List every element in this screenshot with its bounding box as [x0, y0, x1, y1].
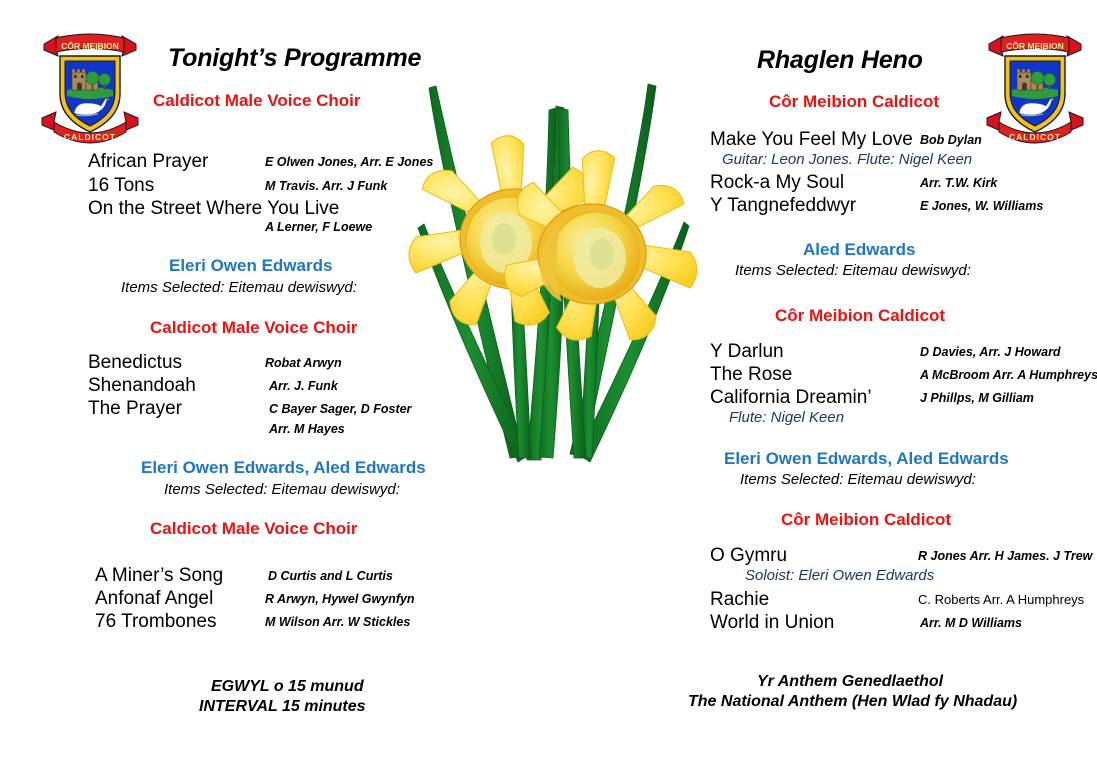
song-credit: Arr. J. Funk — [269, 379, 338, 393]
song-title: The Prayer — [88, 398, 182, 420]
song-title: Y Tangnefeddwyr — [710, 195, 856, 217]
song-credit: R Jones Arr. H James. J Trew — [918, 549, 1092, 563]
right-page-title: Rhaglen Heno — [757, 46, 923, 75]
song-title: Rock-a My Soul — [710, 172, 844, 194]
song-title: Make You Feel My Love — [710, 129, 913, 151]
daffodils-svg — [398, 58, 710, 488]
song-credit: D Curtis and L Curtis — [268, 569, 393, 583]
song-title: Shenandoah — [88, 375, 196, 397]
crest-svg: CÔR MEIBION — [983, 18, 1087, 144]
performer-note: Guitar: Leon Jones. Flute: Nigel Keen — [722, 151, 972, 168]
choir-crest-right: CÔR MEIBION — [983, 18, 1087, 144]
song-credit: M Wilson Arr. W Stickles — [265, 615, 410, 629]
left-footer-line-1: EGWYL o 15 munud — [211, 678, 364, 696]
left-items-selected-4: Items Selected: Eitemau dewiswyd: — [164, 481, 400, 498]
song-credit: Arr. T.W. Kirk — [920, 176, 997, 190]
crest-shield-icon — [60, 56, 120, 132]
left-section-heading-4: Eleri Owen Edwards, Aled Edwards — [141, 458, 426, 478]
svg-text:CALDICOT: CALDICOT — [64, 132, 116, 142]
song-title: On the Street Where You Live — [88, 198, 339, 220]
song-title: The Rose — [710, 364, 792, 386]
song-credit: R Arwyn, Hywel Gwynfyn — [265, 592, 415, 606]
choir-crest-left: CÔR MEIBION — [38, 18, 142, 144]
song-credit: A McBroom Arr. A Humphreys — [920, 368, 1097, 382]
right-items-selected-4: Items Selected: Eitemau dewiswyd: — [740, 471, 976, 488]
song-credit: E Olwen Jones, Arr. E Jones — [265, 155, 433, 169]
left-section-heading-2: Eleri Owen Edwards — [169, 256, 332, 276]
left-footer-line-2: INTERVAL 15 minutes — [199, 698, 366, 716]
crest-top-banner-icon: CÔR MEIBION — [989, 34, 1081, 56]
song-title: 76 Trombones — [95, 611, 216, 633]
crest-svg: CÔR MEIBION — [38, 18, 142, 144]
daffodil-trumpet-icon — [538, 204, 646, 304]
svg-text:CALDICOT: CALDICOT — [1009, 132, 1061, 142]
song-credit: C Bayer Sager, D Foster — [269, 402, 411, 416]
song-title: California Dreamin’ — [710, 387, 872, 409]
svg-text:CÔR MEIBION: CÔR MEIBION — [1006, 40, 1064, 51]
left-section-heading-5: Caldicot Male Voice Choir — [150, 519, 358, 539]
song-title: World in Union — [710, 612, 834, 634]
crest-shield-icon — [1005, 56, 1065, 132]
right-section-heading-2: Aled Edwards — [803, 240, 915, 260]
song-title: Y Darlun — [710, 341, 784, 363]
song-credit: J Phillps, M Gilliam — [920, 391, 1034, 405]
song-credit: D Davies, Arr. J Howard — [920, 345, 1061, 359]
crest-top-banner-icon: CÔR MEIBION — [44, 34, 136, 56]
left-items-selected-2: Items Selected: Eitemau dewiswyd: — [121, 279, 357, 296]
right-section-heading-5: Côr Meibion Caldicot — [781, 510, 951, 530]
performer-note: Flute: Nigel Keen — [729, 409, 844, 426]
performer-note: Soloist: Eleri Owen Edwards — [745, 567, 934, 584]
song-title: Benedictus — [88, 352, 182, 374]
song-credit: Arr. M D Williams — [920, 616, 1022, 630]
song-title: A Miner’s Song — [95, 565, 223, 587]
left-page-title: Tonight’s Programme — [168, 44, 421, 73]
song-title: Anfonaf Angel — [95, 588, 213, 610]
right-items-selected-2: Items Selected: Eitemau dewiswyd: — [735, 262, 971, 279]
right-footer-line-1: Yr Anthem Genedlaethol — [757, 673, 943, 691]
song-title: 16 Tons — [88, 175, 154, 197]
song-credit: Robat Arwyn — [265, 356, 342, 370]
left-section-heading-3: Caldicot Male Voice Choir — [150, 318, 358, 338]
svg-text:CÔR MEIBION: CÔR MEIBION — [61, 40, 119, 51]
right-footer-line-2: The National Anthem (Hen Wlad fy Nhadau) — [688, 693, 1017, 711]
song-credit: M Travis. Arr. J Funk — [265, 179, 387, 193]
song-title: O Gymru — [710, 545, 787, 567]
song-title: African Prayer — [88, 151, 208, 173]
song-credit: E Jones, W. Williams — [920, 199, 1043, 213]
right-section-heading-4: Eleri Owen Edwards, Aled Edwards — [724, 449, 1009, 469]
daffodils-illustration — [398, 58, 710, 488]
programme-page: CÔR MEIBION — [0, 0, 1097, 779]
right-section-heading-3: Côr Meibion Caldicot — [775, 306, 945, 326]
song-credit: A Lerner, F Loewe — [265, 220, 372, 234]
song-credit: Bob Dylan — [920, 133, 982, 147]
song-title: Rachie — [710, 589, 769, 611]
left-section-heading-1: Caldicot Male Voice Choir — [153, 91, 361, 111]
song-credit-secondary: Arr. M Hayes — [269, 422, 345, 436]
song-credit: C. Roberts Arr. A Humphreys — [918, 592, 1084, 607]
right-section-heading-1: Côr Meibion Caldicot — [769, 92, 939, 112]
